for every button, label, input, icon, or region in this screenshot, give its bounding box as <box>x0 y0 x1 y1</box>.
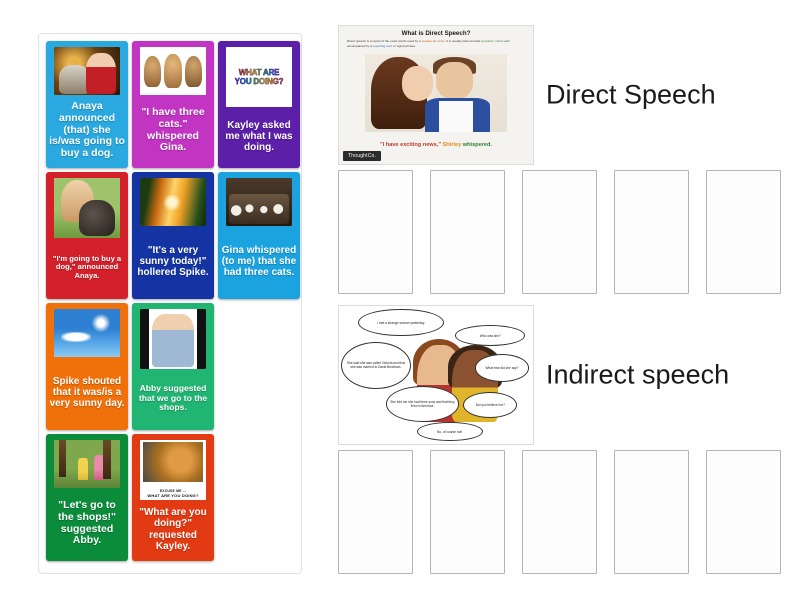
card-image-cat-excuse-me-meme: EXCUSE ME ... WHAT ARE YOU DOING? <box>140 440 206 500</box>
card-label: Abby suggested that we go to the shops. <box>132 369 214 430</box>
card-tray: Anaya announced (that) she is/was going … <box>38 33 302 574</box>
draggable-card[interactable]: EXCUSE ME ... WHAT ARE YOU DOING? "What … <box>132 434 214 561</box>
draggable-card[interactable]: Anaya announced (that) she is/was going … <box>46 41 128 168</box>
draggable-card[interactable]: "I have three cats." whispered Gina. <box>132 41 214 168</box>
group-header: I met a strange woman yesterday. Who was… <box>338 305 790 445</box>
caption-verb: whispered. <box>463 142 492 148</box>
tray-empty-cell <box>218 434 300 561</box>
group-title-direct-speech: Direct Speech <box>546 80 716 111</box>
gossip-scene-art: I met a strange woman yesterday. Who was… <box>339 306 533 444</box>
card-label: Kayley asked me what I was doing. <box>218 107 300 168</box>
draggable-card[interactable]: Gina whispered (to me) that she had thre… <box>218 172 300 299</box>
drop-slot[interactable] <box>522 170 597 294</box>
caption-quote: "I have exciting news," <box>380 142 441 148</box>
activity-canvas: Anaya announced (that) she is/was going … <box>0 0 800 600</box>
card-image-sunset-trees <box>140 178 206 226</box>
drop-slot[interactable] <box>338 450 413 574</box>
illustration-body-text: Direct speech is a report of the exact w… <box>347 39 525 48</box>
card-image-two-girls-hugging <box>140 309 206 369</box>
group-title-indirect-speech: Indirect speech <box>546 360 729 391</box>
speech-bubble: I met a strange woman yesterday. <box>358 309 443 337</box>
card-image-three-kittens <box>140 47 206 95</box>
card-label: "It's a very sunny today!" hollered Spik… <box>132 226 214 299</box>
two-people-whispering-art <box>365 54 507 132</box>
thoughtco-logo: ThoughtCo. <box>343 151 381 161</box>
drop-slot[interactable] <box>338 170 413 294</box>
drop-slot[interactable] <box>614 450 689 574</box>
caption-name: Shirley <box>443 142 462 148</box>
speech-bubble: She said she was called Victoria and tha… <box>341 342 411 389</box>
draggable-card[interactable]: Spike shouted that it was/is a very sunn… <box>46 303 128 430</box>
speech-bubble: Who was she? <box>455 325 525 346</box>
group-header: What is Direct Speech? Direct speech is … <box>338 25 790 165</box>
draggable-card[interactable]: "I'm going to buy a dog," announced Anay… <box>46 172 128 299</box>
drop-slot[interactable] <box>430 450 505 574</box>
speech-bubble: She told me she had three sons and that … <box>386 386 460 422</box>
card-label: "I'm going to buy a dog," announced Anay… <box>46 238 128 299</box>
draggable-card[interactable]: WHAT ARE YOU DOING? Kayley asked me what… <box>218 41 300 168</box>
group-indirect-speech: I met a strange woman yesterday. Who was… <box>338 305 790 445</box>
direct-speech-illustration: What is Direct Speech? Direct speech is … <box>338 25 534 165</box>
draggable-card[interactable]: "Let's go to the shops!" suggested Abby. <box>46 434 128 561</box>
card-label: "I have three cats." whispered Gina. <box>132 95 214 168</box>
drop-zone-row-indirect <box>338 450 790 574</box>
drop-slot[interactable] <box>706 170 781 294</box>
card-image-sunny-sky <box>54 309 120 357</box>
card-image-children-in-park <box>54 440 120 488</box>
card-grid: Anaya announced (that) she is/was going … <box>46 41 295 567</box>
speech-bubble: Did you believe her? <box>463 392 517 418</box>
drop-zone-row-direct <box>338 170 790 294</box>
card-image-girl-hugging-dog <box>54 47 120 95</box>
card-label: "Let's go to the shops!" suggested Abby. <box>46 488 128 561</box>
drop-slot[interactable] <box>706 450 781 574</box>
speech-bubble: What else did she say? <box>475 354 529 382</box>
card-image-girl-holding-puppy <box>54 178 120 238</box>
indirect-speech-illustration: I met a strange woman yesterday. Who was… <box>338 305 534 445</box>
group-direct-speech: What is Direct Speech? Direct speech is … <box>338 25 790 165</box>
card-image-what-are-you-doing: WHAT ARE YOU DOING? <box>226 47 292 107</box>
draggable-card[interactable]: Abby suggested that we go to the shops. <box>132 303 214 430</box>
tray-empty-cell <box>218 303 300 430</box>
card-image-row-of-cats <box>226 178 292 226</box>
card-label: "What are you doing?" requested Kayley. <box>132 500 214 561</box>
card-label: Spike shouted that it was/is a very sunn… <box>46 357 128 430</box>
drop-slot[interactable] <box>430 170 505 294</box>
drop-slot[interactable] <box>614 170 689 294</box>
draggable-card[interactable]: "It's a very sunny today!" hollered Spik… <box>132 172 214 299</box>
speech-bubble: No, of course not! <box>417 422 483 441</box>
illustration-caption: "I have exciting news," Shirley whispere… <box>339 142 533 148</box>
illustration-heading: What is Direct Speech? <box>339 30 533 37</box>
card-label: Gina whispered (to me) that she had thre… <box>218 226 300 299</box>
card-label: Anaya announced (that) she is/was going … <box>46 95 128 168</box>
drop-slot[interactable] <box>522 450 597 574</box>
